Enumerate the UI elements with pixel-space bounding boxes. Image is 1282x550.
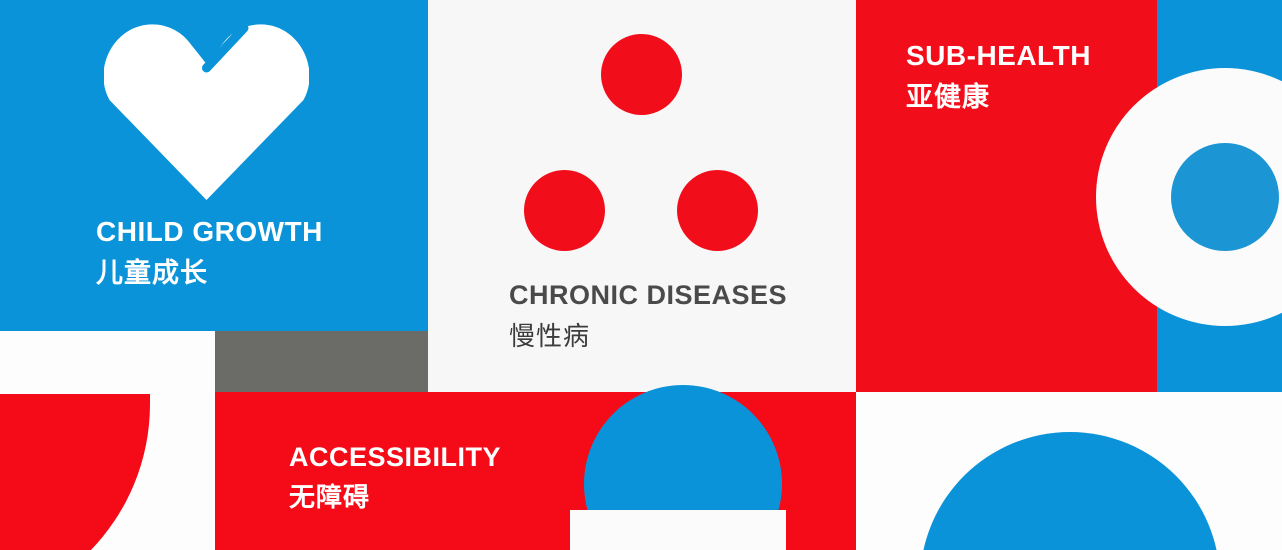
grey-divider-block	[215, 331, 428, 392]
red-dot-top-icon	[601, 34, 682, 115]
bottom-right-blue-circle-icon	[920, 432, 1220, 550]
ring-target-core-icon	[1171, 143, 1279, 251]
red-quarter-circle-notch-icon	[0, 394, 150, 550]
accessibility-label-en: ACCESSIBILITY	[289, 444, 501, 471]
red-dot-left-icon	[524, 170, 605, 251]
panel-bottom-right	[856, 392, 1282, 550]
accessibility-label: ACCESSIBILITY 无障碍	[289, 444, 501, 510]
sub-health-label-zh: 亚健康	[906, 84, 1091, 111]
chronic-diseases-label-zh: 慢性病	[509, 323, 787, 349]
red-dot-right-icon	[677, 170, 758, 251]
sub-health-label-en: SUB-HEALTH	[906, 42, 1091, 70]
panel-child-growth[interactable]: CHILD GROWTH 儿童成长	[0, 0, 428, 331]
child-growth-label: CHILD GROWTH 儿童成长	[96, 218, 323, 287]
chronic-diseases-label-en: CHRONIC DISEASES	[509, 282, 787, 309]
child-growth-label-en: CHILD GROWTH	[96, 218, 323, 246]
sub-health-label: SUB-HEALTH 亚健康	[906, 42, 1091, 111]
heart-icon	[104, 22, 309, 200]
white-bar-shape	[570, 510, 786, 550]
accessibility-label-zh: 无障碍	[289, 484, 501, 510]
poster-canvas: CHILD GROWTH 儿童成长 CHRONIC DISEASES 慢性病 S…	[0, 0, 1282, 550]
chronic-diseases-label: CHRONIC DISEASES 慢性病	[509, 282, 787, 349]
child-growth-label-zh: 儿童成长	[96, 260, 323, 287]
bottom-right-blue-strip	[1157, 380, 1282, 392]
